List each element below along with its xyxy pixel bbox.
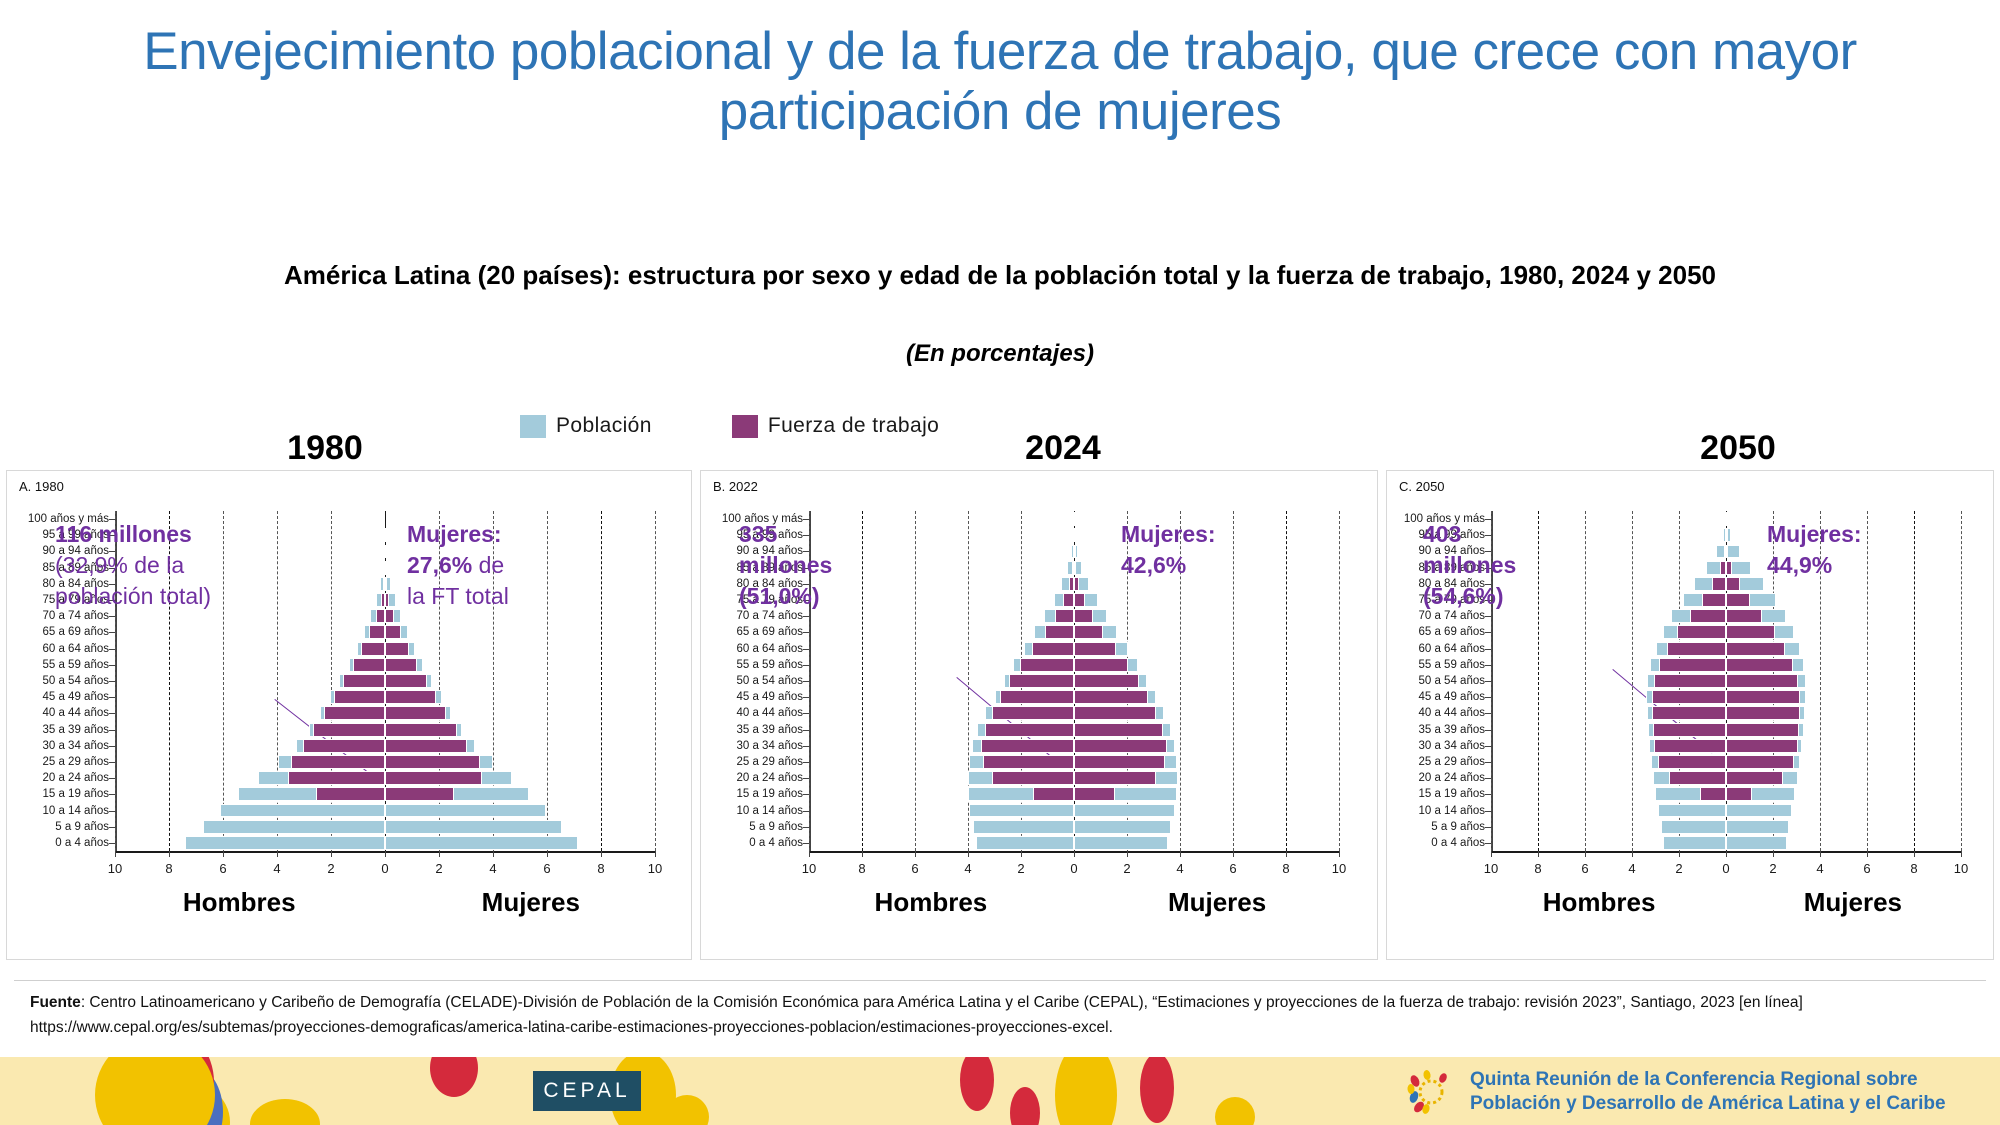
pyramid-bar [1074,690,1148,704]
cepal-logo: CEPAL [533,1071,641,1111]
pyramid-bar [1661,820,1726,834]
pyramid-bar [385,836,578,850]
pyramid-bar [334,690,385,704]
chart-panel-1980: A. 1980 1980 0 a 4 años5 a 9 años10 a 14… [6,470,692,960]
pyramid-bar [1074,820,1171,834]
pyramid-bar [361,642,385,656]
pyramid-bar [969,804,1074,818]
pyramid-bar [1663,836,1726,850]
pyramid-bar [385,528,387,542]
annotation-mujeres: Mujeres:42,6% [1121,519,1216,581]
panel-year-1980: 1980 [0,429,667,468]
pyramid-bar [1074,512,1076,526]
pyramid-bar [1074,836,1168,850]
footer-decoration [1055,1057,1117,1125]
pyramid-bar [376,609,385,623]
x-axis-tick [1491,851,1492,857]
y-axis-tick-label: 25 a 29 años [42,756,109,768]
x-axis-tick [439,851,440,857]
pyramid-bar [1726,545,1728,559]
y-axis-tick-label: 10 a 14 años [1418,805,1485,817]
y-axis-tick-label: 5 a 9 años [55,821,109,833]
pyramid-bar [1652,706,1726,720]
x-axis-tick [1233,851,1234,857]
panel-code-2050: C. 2050 [1399,479,1445,494]
y-axis-tick-label: 45 a 49 años [736,691,803,703]
x-axis-tick-label: 6 [1863,861,1870,876]
pyramid-bar [1074,771,1156,785]
x-axis-tick [493,851,494,857]
y-axis-tick-label: 70 a 74 años [1418,610,1485,622]
pyramid-bar [1654,674,1726,688]
y-axis-tick-label: 35 a 39 años [42,724,109,736]
pyramid-bar [1033,787,1074,801]
pyramid-bar [385,642,409,656]
y-axis-tick-label: 0 a 4 años [1431,837,1485,849]
pyramid-bar [1074,577,1079,591]
pyramid-bar [985,723,1074,737]
x-axis-tick-label: 6 [1229,861,1236,876]
pyramid-bar [385,577,387,591]
pyramid-bar [369,625,385,639]
pyramid-bar [1074,723,1163,737]
x-axis-tick-label: 2 [1675,861,1682,876]
x-axis-tick [862,851,863,857]
pyramid-bar [1669,771,1726,785]
pyramid-bar [1726,723,1799,737]
x-axis-tick-label: 4 [1816,861,1823,876]
source-divider [14,980,1986,981]
pyramid-bar [1074,561,1076,575]
chart-subtitle: América Latina (20 países): estructura p… [230,255,1770,295]
annotation-line: 27,6% de [407,550,509,581]
y-axis-tick-label: 65 a 69 años [736,626,803,638]
annotation-line: (54,6%) [1423,581,1516,612]
footer-decoration [1140,1057,1174,1123]
pyramid-bar [1653,723,1726,737]
pyramid-bar [1667,642,1726,656]
gridline [1961,511,1962,851]
x-axis-tick-label: 10 [1954,861,1968,876]
pyramid-bar [1726,690,1800,704]
x-axis-tick-label: 8 [858,861,865,876]
y-axis-tick-label: 30 a 34 años [736,740,803,752]
x-axis-tick [277,851,278,857]
pyramid-bar [1074,706,1156,720]
y-axis-tick-label: 45 a 49 años [1418,691,1485,703]
pyramid-bar [291,755,386,769]
pyramid-bar [1074,642,1116,656]
x-axis-tick [1726,851,1727,857]
x-axis-tick-label: 2 [1123,861,1130,876]
y-axis-tick-label: 25 a 29 años [736,756,803,768]
pyramid-bar [1063,593,1074,607]
y-axis-tick-label: 40 a 44 años [42,707,109,719]
pyramid-bar [983,755,1074,769]
pyramid-bar [1055,609,1074,623]
pyramid-bar [1726,771,1783,785]
x-axis-tick [809,851,810,857]
annotation-line: población total) [55,581,211,612]
pyramid-bar [1074,755,1165,769]
pyramid-bar [1677,625,1726,639]
pyramid-bar [1702,593,1726,607]
x-axis-tick [331,851,332,857]
x-axis-tick [1538,851,1539,857]
y-axis-tick-label: 35 a 39 años [1418,724,1485,736]
pyramid-bar [976,836,1074,850]
y-axis-tick-label: 65 a 69 años [1418,626,1485,638]
x-axis-tick-label: 4 [1176,861,1183,876]
x-axis-tick [1585,851,1586,857]
pyramid-bar [343,674,385,688]
x-axis-tick [1127,851,1128,857]
annotation-poblacion: 116 millones(32,9% de lapoblación total) [55,519,211,612]
y-axis-tick-label: 30 a 34 años [1418,740,1485,752]
pyramid-bar [288,771,385,785]
x-axis-tick-label: 10 [108,861,122,876]
footer-decoration [1010,1087,1040,1125]
plot-area [809,511,1339,851]
pyramid-bar [1726,609,1762,623]
gridline [1914,511,1915,851]
gridline [1286,511,1287,851]
pyramid-bar [1009,674,1074,688]
y-axis-tick-label: 40 a 44 años [736,707,803,719]
x-axis-tick-label: 8 [1910,861,1917,876]
footer-decoration [1215,1097,1255,1125]
footer-decoration [430,1057,478,1097]
gridline [223,511,224,851]
gridline [1538,511,1539,851]
x-axis-tick-label: 4 [964,861,971,876]
pyramid-bar [385,804,546,818]
pyramid-bar [1074,787,1115,801]
x-axis-tick-label: 2 [327,861,334,876]
annotation-line: millones [739,550,832,581]
x-axis-tick-label: 0 [1070,861,1077,876]
y-axis-tick-label: 15 a 19 años [1418,788,1485,800]
pyramid-bar [385,674,427,688]
x-axis-tick-label: 2 [1017,861,1024,876]
pyramid-bar [1074,674,1139,688]
pyramid-bar [1074,625,1103,639]
pyramid-bar [1020,658,1074,672]
pyramid-bar [1690,609,1726,623]
axis-label-hombres: Hombres [1543,887,1656,918]
conference-title-line2: Población y Desarrollo de América Latina… [1470,1092,1946,1116]
x-axis-tick [1679,851,1680,857]
annotation-line: (51,0%) [739,581,832,612]
annotation-mujeres: Mujeres:44,9% [1767,519,1862,581]
x-axis-tick-label: 6 [219,861,226,876]
annotation-line: Mujeres: [1767,519,1862,550]
pyramid-bar [1726,787,1752,801]
pyramid-bar [313,723,385,737]
pyramid-bar [1074,658,1128,672]
annotation-line: 116 millones [55,519,211,550]
x-axis-tick [968,851,969,857]
x-axis-tick [1961,851,1962,857]
pyramid-bar [1726,625,1775,639]
pyramid-bar [1658,804,1726,818]
annotation-line: millones [1423,550,1516,581]
x-axis-tick-label: 4 [273,861,280,876]
pyramid-bar [385,739,467,753]
y-axis-tick-label: 20 a 24 años [1418,772,1485,784]
pyramid-bar [385,723,457,737]
pyramid-bar [1726,512,1728,526]
annotation-poblacion: 335millones(51,0%) [739,519,832,612]
pyramid-bar [385,658,417,672]
annotation-line: Mujeres: [407,519,509,550]
pyramid-bar [1726,561,1732,575]
annotation-line: 44,9% [1767,550,1862,581]
gridline [1585,511,1586,851]
annotation-line: Mujeres: [1121,519,1216,550]
pyramid-bar [1712,577,1726,591]
annotation-poblacion: 403millones(54,6%) [1423,519,1516,612]
x-axis-tick-label: 8 [597,861,604,876]
x-axis-tick-label: 8 [1534,861,1541,876]
x-axis-tick-label: 10 [648,861,662,876]
x-axis-tick-label: 4 [1628,861,1635,876]
pyramid-bar [1074,593,1085,607]
x-axis-tick [115,851,116,857]
x-axis-tick-label: 10 [1484,861,1498,876]
x-axis-tick [1074,851,1075,857]
gridline [547,511,548,851]
x-axis-tick [655,851,656,857]
pyramid-bar [385,593,389,607]
y-axis-tick-label: 50 a 54 años [736,675,803,687]
y-axis-tick-label: 5 a 9 años [1431,821,1485,833]
annotation-line: 42,6% [1121,550,1216,581]
x-axis-tick-label: 10 [802,861,816,876]
pyramid-bar [1000,690,1074,704]
pyramid-bar [1032,642,1074,656]
pyramid-bar [1726,528,1728,542]
y-axis-tick-label: 65 a 69 años [42,626,109,638]
pyramid-bar [1726,674,1798,688]
y-axis-tick-label: 0 a 4 años [749,837,803,849]
pyramid-bar [385,706,446,720]
x-axis-tick-label: 6 [911,861,918,876]
y-axis-tick-label: 10 a 14 años [42,805,109,817]
source-label: Fuente [30,994,81,1011]
x-axis-tick-label: 6 [1581,861,1588,876]
annotation-mujeres: Mujeres:27,6% dela FT total [407,519,509,612]
x-axis-tick [1867,851,1868,857]
gridline [862,511,863,851]
source-text: : Centro Latinoamericano y Caribeño de D… [30,994,1803,1036]
pyramid-bar [1726,836,1787,850]
panel-year-2050: 2050 [1435,429,2000,468]
pyramid-bar [385,561,387,575]
chart-panel-2024: B. 2022 2024 0 a 4 años5 a 9 años10 a 14… [700,470,1378,960]
pyramid-bar [973,820,1074,834]
pyramid-bar [385,545,387,559]
x-axis-tick-label: 2 [1769,861,1776,876]
pyramid-bar [1726,593,1750,607]
pyramid-bar [1074,739,1167,753]
gridline [915,511,916,851]
chart-units: (En porcentajes) [230,340,1770,368]
annotation-line: 335 [739,519,832,550]
pyramid-bar [1726,820,1789,834]
conference-title-line1: Quinta Reunión de la Conferencia Regiona… [1470,1068,1946,1092]
x-axis-tick [1914,851,1915,857]
pyramid-bar [1074,804,1175,818]
y-axis-tick-label: 55 a 59 años [42,659,109,671]
gridline [1867,511,1868,851]
x-axis-tick [1180,851,1181,857]
annotation-line: (32,9% de la [55,550,211,581]
pyramid-bar [385,755,480,769]
pyramid-bar [1654,739,1726,753]
pyramid-bar [1726,577,1740,591]
pyramid-bar [385,625,401,639]
y-axis-tick-label: 55 a 59 años [736,659,803,671]
y-axis-tick-label: 60 a 64 años [736,643,803,655]
pyramid-bar [1658,755,1726,769]
x-axis-tick-label: 0 [381,861,388,876]
y-axis-tick-label: 40 a 44 años [1418,707,1485,719]
conference-title: Quinta Reunión de la Conferencia Regiona… [1470,1068,1946,1116]
pyramid-bar [316,787,385,801]
y-axis-tick-label: 70 a 74 años [42,610,109,622]
pyramid-bar [1726,642,1785,656]
x-axis-tick [1773,851,1774,857]
panel-code-2024: B. 2022 [713,479,758,494]
y-axis-tick-label: 55 a 59 años [1418,659,1485,671]
y-axis-tick-label: 25 a 29 años [1418,756,1485,768]
pyramid-bar [385,820,562,834]
y-axis-tick-label: 10 a 14 años [736,805,803,817]
axis-label-mujeres: Mujeres [482,887,580,918]
pyramid-bar [385,771,482,785]
plot-area [1491,511,1961,851]
y-axis-tick-label: 30 a 34 años [42,740,109,752]
pyramid-bar [981,739,1074,753]
y-axis-tick-label: 60 a 64 años [1418,643,1485,655]
pyramid-bar [385,690,436,704]
pyramid-bar [385,609,394,623]
pyramid-bar [1045,625,1074,639]
page-footer: CEPAL Quinta Reunión de la Conferencia R… [0,1057,2000,1125]
x-axis-tick [223,851,224,857]
y-axis-tick-label: 15 a 19 años [736,788,803,800]
y-axis-tick-label: 5 a 9 años [749,821,803,833]
pyramid-bar [385,787,454,801]
footer-decoration [250,1099,320,1125]
gridline [655,511,656,851]
x-axis-tick-label: 8 [1282,861,1289,876]
gridline [1233,511,1234,851]
cepal-logo-text: CEPAL [543,1079,630,1103]
x-axis-tick [1021,851,1022,857]
gridline [1632,511,1633,851]
y-axis-tick-label: 35 a 39 años [736,724,803,736]
y-axis-tick-label: 70 a 74 años [736,610,803,622]
annotation-line: 403 [1423,519,1516,550]
panel-code-1980: A. 1980 [19,479,64,494]
pyramid-bar [203,820,385,834]
pyramid-bar [992,706,1074,720]
pyramid-bar [1074,528,1076,542]
pyramid-bar [220,804,385,818]
x-axis-tick-label: 0 [1722,861,1729,876]
axis-label-hombres: Hombres [183,887,296,918]
x-axis-tick-label: 10 [1332,861,1346,876]
pyramid-bar [1074,545,1076,559]
footer-decoration [960,1057,994,1111]
pyramid-bar [1700,787,1726,801]
panel-year-2024: 2024 [725,429,1401,468]
pyramid-bar [1726,739,1798,753]
source-note: Fuente: Centro Latinoamericano y Caribeñ… [30,990,1980,1040]
x-axis-tick [547,851,548,857]
slide-root: Envejecimiento poblacional y de la fuerz… [0,0,2000,1125]
pyramid-bar [1074,609,1093,623]
x-axis-tick-label: 6 [543,861,550,876]
x-axis-tick [385,851,386,857]
page-title: Envejecimiento poblacional y de la fuerz… [0,22,2000,142]
footer-decoration [95,1057,215,1125]
x-axis-tick [601,851,602,857]
pyramid-bar [185,836,385,850]
axis-label-mujeres: Mujeres [1804,887,1902,918]
gridline [601,511,602,851]
pyramid-bar [1726,755,1794,769]
y-axis-tick-label: 15 a 19 años [42,788,109,800]
chart-panel-2050: C. 2050 2050 0 a 4 años5 a 9 años10 a 14… [1386,470,1994,960]
x-axis-tick-label: 4 [489,861,496,876]
x-axis-tick [915,851,916,857]
pyramid-bar [1659,658,1726,672]
y-axis-tick-label: 60 a 64 años [42,643,109,655]
pyramid-bar [1726,658,1793,672]
pyramid-bar [1726,706,1800,720]
conference-emblem-icon [1405,1069,1457,1115]
x-axis-tick [1339,851,1340,857]
x-axis-tick-label: 2 [435,861,442,876]
x-axis-tick [1286,851,1287,857]
y-axis-tick-label: 45 a 49 años [42,691,109,703]
pyramid-bar [1726,804,1792,818]
pyramid-bar [324,706,385,720]
pyramid-bar [353,658,385,672]
axis-label-hombres: Hombres [875,887,988,918]
y-axis-tick-label: 50 a 54 años [1418,675,1485,687]
x-axis-tick [1820,851,1821,857]
y-axis-tick-label: 20 a 24 años [42,772,109,784]
x-axis-tick-label: 8 [165,861,172,876]
gridline [1339,511,1340,851]
x-axis-tick [1632,851,1633,857]
pyramid-bar [1652,690,1726,704]
pyramid-bar [303,739,385,753]
y-axis-tick-label: 0 a 4 años [55,837,109,849]
x-axis-tick [169,851,170,857]
pyramid-bar [992,771,1074,785]
axis-label-mujeres: Mujeres [1168,887,1266,918]
annotation-line: la FT total [407,581,509,612]
y-axis-tick-label: 20 a 24 años [736,772,803,784]
y-axis-tick-label: 50 a 54 años [42,675,109,687]
